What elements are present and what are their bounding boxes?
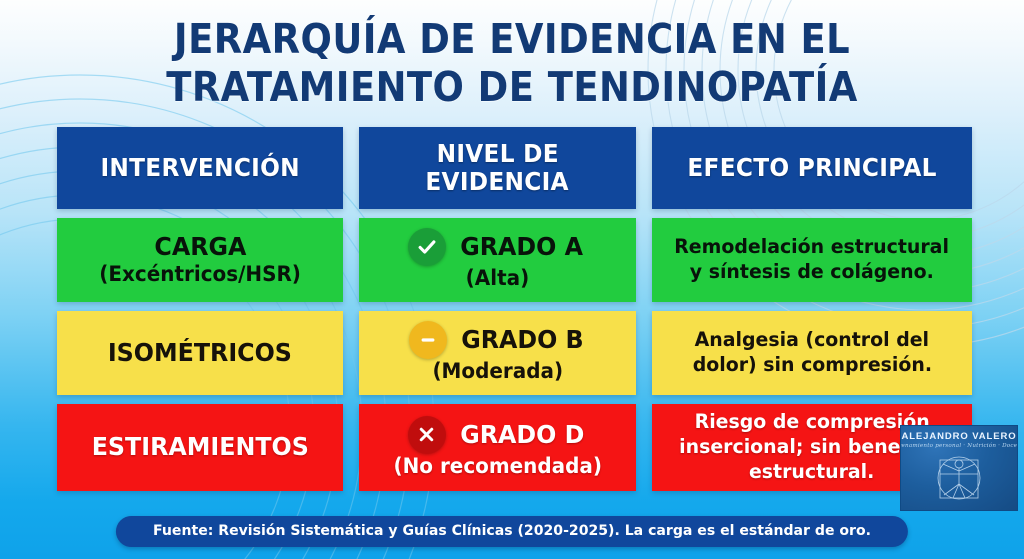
page-title-line-1: JERARQUÍA DE EVIDENCIA EN EL (51, 16, 973, 64)
brand-logo-name: ALEJANDRO VALERO (901, 431, 1016, 442)
level-main-label: GRADO B (461, 326, 583, 355)
effect-line-2: dolor) sin compresión. (692, 353, 931, 378)
x-circle-icon (408, 416, 446, 454)
header-cell-intervention: INTERVENCIÓN (57, 127, 343, 209)
evidence-hierarchy-table: INTERVENCIÓN NIVEL DE EVIDENCIA EFECTO P… (57, 127, 970, 491)
table-row: CARGA (Excéntricos/HSR) GRADO A (Alta) R… (57, 218, 970, 302)
cell-intervention-estiramientos: ESTIRAMIENTOS (57, 404, 343, 491)
table-row: ESTIRAMIENTOS GRADO D (No recomendada) R… (57, 404, 970, 491)
level-sub-label: (Moderada) (432, 359, 563, 384)
cell-effect-grado-b: Analgesia (control del dolor) sin compre… (652, 311, 972, 395)
page-title: JERARQUÍA DE EVIDENCIA EN EL TRATAMIENTO… (51, 16, 973, 112)
effect-line-3: estructural. (749, 460, 874, 485)
header-cell-main-effect: EFECTO PRINCIPAL (652, 127, 972, 209)
cell-level-grado-d: GRADO D (No recomendada) (359, 404, 636, 491)
cell-intervention-carga: CARGA (Excéntricos/HSR) (57, 218, 343, 302)
effect-line-1: Riesgo de compresión (694, 410, 929, 435)
header-label-evidence-line-2: EVIDENCIA (426, 168, 569, 196)
header-label-evidence-line-1: NIVEL DE (436, 140, 558, 168)
header-cell-evidence-level: NIVEL DE EVIDENCIA (359, 127, 636, 209)
check-circle-icon (408, 228, 446, 266)
cell-effect-grado-a: Remodelación estructural y síntesis de c… (652, 218, 972, 302)
intervention-main-label: ESTIRAMIENTOS (91, 433, 308, 462)
cell-level-grado-b: GRADO B (Moderada) (359, 311, 636, 395)
table-header-row: INTERVENCIÓN NIVEL DE EVIDENCIA EFECTO P… (57, 127, 970, 209)
page-title-line-2: TRATAMIENTO DE TENDINOPATÍA (51, 64, 973, 112)
table-row: ISOMÉTRICOS GRADO B (Moderada) Analgesia… (57, 311, 970, 395)
level-sub-label: (No recomendada) (393, 454, 601, 479)
brand-logo: ALEJANDRO VALERO Entrenamiento personal … (900, 425, 1018, 511)
intervention-sub-label: (Excéntricos/HSR) (99, 262, 301, 287)
header-label-intervention: INTERVENCIÓN (100, 154, 299, 182)
level-sub-label: (Alta) (466, 266, 530, 291)
effect-line-2: y síntesis de colágeno. (690, 260, 934, 285)
cell-intervention-isometricos: ISOMÉTRICOS (57, 311, 343, 395)
source-footnote: Fuente: Revisión Sistemática y Guías Clí… (116, 516, 908, 547)
vitruvian-man-icon (922, 450, 996, 506)
effect-line-1: Remodelación estructural (675, 235, 950, 260)
brand-logo-subtitle: Entrenamiento personal · Nutrición · Doc… (900, 443, 1018, 449)
level-main-label: GRADO D (460, 421, 584, 450)
cell-level-grado-a: GRADO A (Alta) (359, 218, 636, 302)
intervention-main-label: ISOMÉTRICOS (108, 339, 292, 368)
effect-line-1: Analgesia (control del (695, 328, 929, 353)
minus-circle-icon (409, 321, 447, 359)
header-label-main-effect: EFECTO PRINCIPAL (687, 154, 936, 182)
intervention-main-label: CARGA (154, 233, 246, 262)
level-main-label: GRADO A (461, 233, 584, 262)
source-footnote-text: Fuente: Revisión Sistemática y Guías Clí… (153, 523, 871, 539)
